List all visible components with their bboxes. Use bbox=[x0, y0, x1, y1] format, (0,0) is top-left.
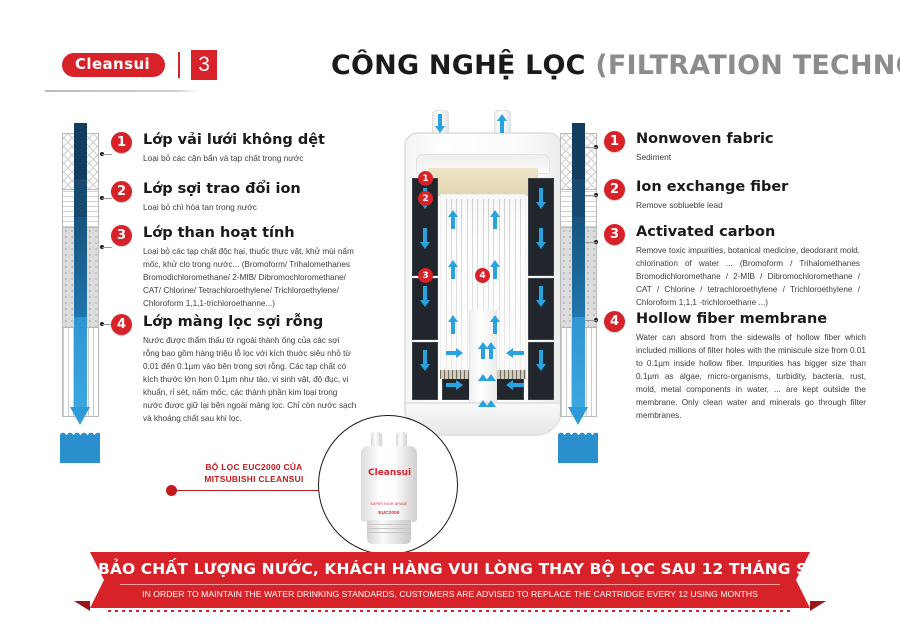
flow-right-4-stem bbox=[539, 350, 543, 364]
cartridge-illustration: Cleansui SUPER HIGH GRADE EUC2000 bbox=[361, 432, 417, 544]
flow-arrow-inlet bbox=[435, 126, 445, 133]
right-item-2-desc: Remove soblueble lead bbox=[636, 199, 854, 212]
diagram-badge-4: 4 bbox=[475, 268, 490, 283]
right-item-2-title: Ion exchange fiber bbox=[636, 179, 854, 196]
flow-right-1-stem bbox=[539, 188, 543, 202]
left-item-3-badge: 3 bbox=[111, 225, 132, 246]
flow-fiber-u4-stem bbox=[493, 267, 497, 279]
flow-fiber-u5 bbox=[448, 315, 458, 322]
banner-divider bbox=[120, 584, 780, 585]
flow-bottom-in-left-2-stem bbox=[446, 383, 457, 387]
diagram-badge-1: 1 bbox=[418, 171, 433, 186]
flow-bottom-in-left-1-stem bbox=[446, 351, 457, 355]
flow-right-2-stem bbox=[539, 228, 543, 242]
flow-bottom-in-left-2 bbox=[456, 380, 463, 390]
left-item-2-title: Lớp sợi trao đổi ion bbox=[143, 181, 351, 198]
flow-arrow-inlet-stem bbox=[438, 114, 442, 126]
right-item-4-desc: Water can absord from the sidewalls of h… bbox=[636, 331, 866, 423]
flow-tube-u4 bbox=[486, 374, 496, 381]
header: Cleansui 3 CÔNG NGHỆ LỌC (FILTRATION TEC… bbox=[0, 0, 900, 100]
leader-line-right-3 bbox=[585, 242, 597, 243]
cartridge-brand-text: Cleansui bbox=[368, 468, 410, 478]
flow-fiber-u1 bbox=[448, 210, 458, 217]
callout-label-line2: MITSUBISHI CLEANSUI bbox=[186, 473, 322, 485]
right-item-1-badge: 1 bbox=[604, 131, 625, 152]
logo-number-badge: 3 bbox=[191, 50, 217, 80]
banner-tail-right bbox=[810, 601, 826, 611]
flow-fiber-u6-stem bbox=[493, 322, 497, 334]
flow-fiber-u5-stem bbox=[451, 322, 455, 334]
flow-right-2 bbox=[536, 242, 546, 249]
right-item-3: 3 Activated carbon Remove toxic impuriti… bbox=[604, 224, 860, 309]
flow-bottom-in-right-2 bbox=[506, 380, 513, 390]
flow-fiber-u3 bbox=[448, 260, 458, 267]
brand-logo: Cleansui 3 bbox=[62, 50, 217, 80]
left-item-1-desc: Loại bỏ các cặn bẩn và tạp chất trong nư… bbox=[143, 152, 351, 165]
callout-label-line1: BỘ LỌC EUC2000 CỦA bbox=[186, 461, 322, 473]
flow-fiber-u2-stem bbox=[493, 217, 497, 229]
left-item-2: 2 Lớp sợi trao đổi ion Loại bỏ chì hòa t… bbox=[111, 181, 351, 214]
infographic-page: Cleansui 3 CÔNG NGHỆ LỌC (FILTRATION TEC… bbox=[0, 0, 900, 636]
cartridge-rib-2 bbox=[367, 528, 411, 529]
banner-text-en: IN ORDER TO MAINTAIN THE WATER DRINKING … bbox=[0, 589, 900, 599]
left-item-1-title: Lớp vải lưới không dệt bbox=[143, 132, 351, 149]
water-band-right-1 bbox=[572, 123, 585, 179]
flow-left-3-stem bbox=[423, 286, 427, 300]
left-item-4-desc: Nước được thẩm thấu từ ngoài thành ống c… bbox=[143, 334, 357, 426]
flow-left-4 bbox=[420, 364, 430, 371]
left-item-1: 1 Lớp vải lưới không dệt Loại bỏ các cặn… bbox=[111, 132, 351, 165]
cartridge-rib-1 bbox=[367, 524, 411, 525]
flow-bottom-in-right-2-stem bbox=[513, 383, 524, 387]
callout-label: BỘ LỌC EUC2000 CỦA MITSUBISHI CLEANSUI bbox=[186, 461, 322, 485]
page-title-vn: CÔNG NGHỆ LỌC bbox=[331, 50, 586, 81]
right-item-2-badge: 2 bbox=[604, 179, 625, 200]
left-item-3: 3 Lớp than hoạt tính Loại bỏ các tạp chấ… bbox=[111, 225, 357, 310]
header-underline bbox=[45, 90, 200, 92]
left-item-4-title: Lớp màng lọc sợi rỗng bbox=[143, 314, 357, 331]
filter-cutaway-diagram: 1 2 3 4 bbox=[390, 110, 575, 440]
flow-left-3 bbox=[420, 300, 430, 307]
flow-bottom-in-right-1-stem bbox=[513, 351, 524, 355]
flow-fiber-u2 bbox=[490, 210, 500, 217]
water-pool-right bbox=[558, 435, 598, 463]
left-item-3-desc: Loại bỏ các tạp chất độc hại, thuốc thực… bbox=[143, 245, 357, 311]
left-item-1-badge: 1 bbox=[111, 132, 132, 153]
callout-leader-dot bbox=[166, 485, 177, 496]
water-band-right-4 bbox=[572, 317, 585, 407]
right-item-3-title: Activated carbon bbox=[636, 224, 860, 241]
flow-fiber-u3-stem bbox=[451, 267, 455, 279]
left-item-2-desc: Loại bỏ chì hòa tan trong nước bbox=[143, 201, 351, 214]
right-item-1-title: Nonwoven fabric bbox=[636, 131, 854, 148]
leader-line-right-2 bbox=[585, 195, 597, 196]
right-item-3-desc: Remove toxic impurities, botanical medic… bbox=[636, 244, 860, 310]
flow-tube-u2-stem bbox=[489, 349, 493, 359]
water-pool-left bbox=[60, 435, 100, 463]
water-band-left-2 bbox=[74, 179, 87, 217]
right-item-3-badge: 3 bbox=[604, 224, 625, 245]
flow-arrow-outlet bbox=[497, 114, 507, 121]
water-tip-right bbox=[568, 407, 588, 425]
cartridge-model-text: EUC2000 bbox=[368, 510, 410, 515]
page-title: CÔNG NGHỆ LỌC (FILTRATION TECHNOLOGY) bbox=[331, 50, 900, 81]
water-band-left-3b bbox=[74, 217, 87, 317]
logo-divider bbox=[178, 52, 180, 78]
flow-left-4-stem bbox=[423, 350, 427, 364]
cartridge-sub-text: SUPER HIGH GRADE bbox=[368, 502, 410, 506]
flow-fiber-u4 bbox=[490, 260, 500, 267]
flow-left-2-stem bbox=[423, 228, 427, 242]
flow-right-4 bbox=[536, 364, 546, 371]
flow-tube-u1-stem bbox=[481, 349, 485, 359]
flow-bottom-in-right-1 bbox=[506, 348, 513, 358]
right-item-1: 1 Nonwoven fabric Sediment bbox=[604, 131, 854, 164]
flow-fiber-u1-stem bbox=[451, 217, 455, 229]
cartridge-rib-3 bbox=[367, 532, 411, 533]
water-band-right-3 bbox=[572, 217, 585, 317]
leader-line-right-1 bbox=[585, 147, 597, 148]
water-band-right-2 bbox=[572, 179, 585, 217]
banner-tail-left bbox=[74, 601, 90, 611]
left-item-3-title: Lớp than hoạt tính bbox=[143, 225, 357, 242]
leader-line-right-4 bbox=[585, 320, 597, 321]
sediment-layer bbox=[428, 168, 538, 196]
right-item-4: 4 Hollow fiber membrane Water can absord… bbox=[604, 311, 866, 423]
flow-bottom-in-left-1 bbox=[456, 348, 463, 358]
left-item-4: 4 Lớp màng lọc sợi rỗng Nước được thẩm t… bbox=[111, 314, 357, 426]
flow-right-3 bbox=[536, 300, 546, 307]
right-item-1-desc: Sediment bbox=[636, 151, 854, 164]
flow-fiber-u6 bbox=[490, 315, 500, 322]
right-item-4-badge: 4 bbox=[604, 311, 625, 332]
flow-tube-u6 bbox=[486, 400, 496, 407]
cartridge-photo: Cleansui SUPER HIGH GRADE EUC2000 bbox=[318, 415, 458, 555]
flow-tube-u2 bbox=[486, 342, 496, 349]
water-tip-left bbox=[70, 407, 90, 425]
water-band-left bbox=[74, 123, 87, 179]
diagram-badge-2: 2 bbox=[418, 191, 433, 206]
right-item-2: 2 Ion exchange fiber Remove soblueble le… bbox=[604, 179, 854, 212]
logo-wordmark: Cleansui bbox=[62, 53, 165, 78]
left-item-2-badge: 2 bbox=[111, 181, 132, 202]
flow-right-1 bbox=[536, 202, 546, 209]
callout-leader-line bbox=[172, 490, 324, 491]
left-item-4-badge: 4 bbox=[111, 314, 132, 335]
water-band-left-4 bbox=[74, 317, 87, 407]
banner-dotted-edge bbox=[108, 610, 794, 612]
flow-arrow-outlet-stem bbox=[500, 121, 504, 133]
flow-right-3-stem bbox=[539, 286, 543, 300]
diagram-badge-3: 3 bbox=[418, 268, 433, 283]
right-item-4-title: Hollow fiber membrane bbox=[636, 311, 866, 328]
banner-text-vn: ĐỂ ĐẢM BẢO CHẤT LƯỢNG NƯỚC, KHÁCH HÀNG V… bbox=[0, 560, 900, 578]
flow-left-2 bbox=[420, 242, 430, 249]
footer-banner: ĐỂ ĐẢM BẢO CHẤT LƯỢNG NƯỚC, KHÁCH HÀNG V… bbox=[0, 552, 900, 614]
page-title-en: (FILTRATION TECHNOLOGY) bbox=[595, 50, 900, 81]
